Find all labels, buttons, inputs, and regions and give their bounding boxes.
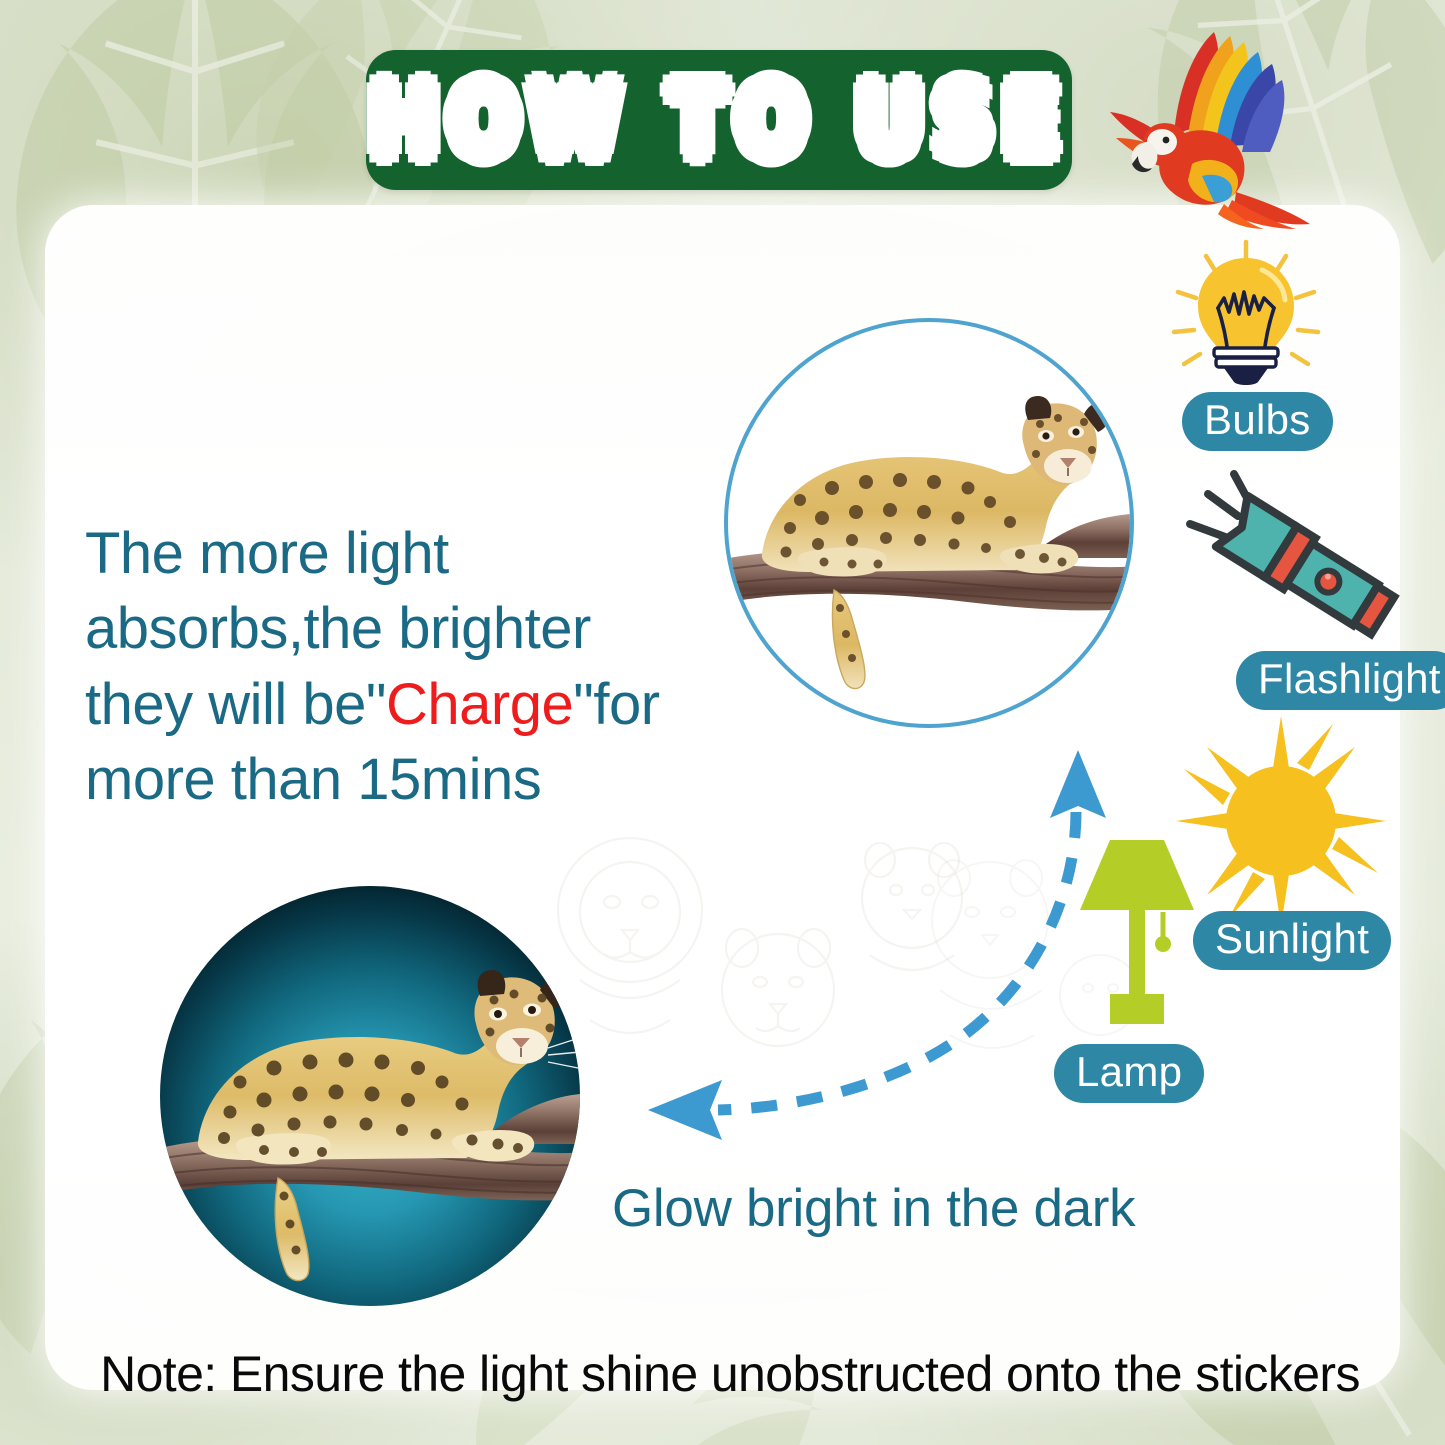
badge-lamp[interactable]: Lamp — [1054, 1044, 1204, 1103]
macaw-parrot-icon — [1082, 14, 1347, 229]
glow-caption: Glow bright in the dark — [612, 1178, 1135, 1239]
charge-highlight: Charge — [386, 672, 573, 737]
badge-bulbs-label: Bulbs — [1204, 397, 1311, 442]
copy-line-1: The more light — [85, 521, 449, 586]
copy-line-3-suffix: "for — [573, 672, 659, 737]
header-banner: HOW TO USE — [366, 50, 1072, 190]
copy-line-3-prefix: they will be" — [85, 672, 386, 737]
page-title: HOW TO USE — [369, 63, 1069, 177]
badge-flashlight[interactable]: Flashlight — [1236, 651, 1445, 710]
light-bulb-icon — [1166, 236, 1326, 396]
flashlight-icon — [1182, 462, 1412, 642]
footer-note: Note: Ensure the light shine unobstructe… — [70, 1345, 1390, 1403]
badge-lamp-label: Lamp — [1076, 1049, 1182, 1094]
badge-flashlight-label: Flashlight — [1258, 656, 1441, 701]
badge-sunlight[interactable]: Sunlight — [1193, 911, 1391, 970]
copy-line-4: more than 15mins — [85, 747, 541, 812]
badge-bulbs[interactable]: Bulbs — [1182, 392, 1333, 451]
copy-line-2: absorbs,the brighter — [85, 596, 591, 661]
leopard-daylight-photo — [724, 318, 1134, 728]
leopard-glow-in-dark-photo — [160, 886, 580, 1306]
infographic-stage: HOW TO USE — [0, 0, 1445, 1445]
table-lamp-icon — [1062, 834, 1212, 1044]
badge-sunlight-label: Sunlight — [1215, 916, 1369, 961]
